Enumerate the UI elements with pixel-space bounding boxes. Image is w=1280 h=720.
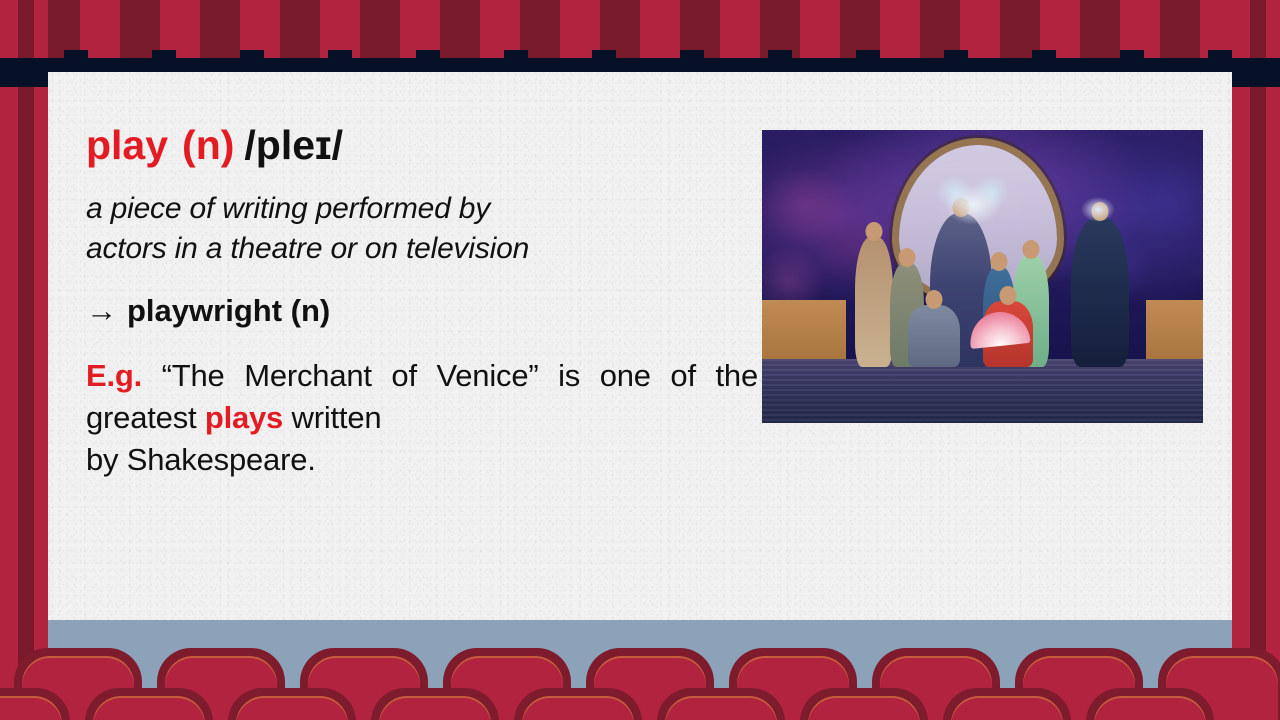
- stage-block-right: [1146, 300, 1203, 359]
- example-line-3: by Shakespeare.: [86, 439, 758, 481]
- example-highlight-word: plays: [205, 400, 283, 435]
- curtain-leg-right: [1232, 0, 1280, 720]
- audience-seat: [228, 688, 356, 720]
- curtain-leg-left: [0, 0, 48, 720]
- example-label: E.g.: [86, 358, 142, 393]
- definition-line-1: a piece of writing performed by: [86, 192, 490, 225]
- right-crown: [1075, 189, 1121, 223]
- vocabulary-slide: play(n)/pleɪ/ a piece of writing perform…: [0, 0, 1280, 720]
- text-column: play(n)/pleɪ/ a piece of writing perform…: [86, 124, 758, 481]
- derivative-line: →playwright (n): [86, 292, 758, 329]
- performer-head: [898, 248, 915, 267]
- audience-seat: [800, 688, 928, 720]
- example-line-1: “The Merchant of Venice” is: [162, 358, 580, 393]
- stage-block-left: [762, 300, 846, 359]
- audience-seat: [371, 688, 499, 720]
- audience-seat: [85, 688, 213, 720]
- audience-seat: [514, 688, 642, 720]
- performer-head: [865, 222, 882, 241]
- example-line-2-after: written: [283, 400, 381, 435]
- stage-floor: [762, 359, 1203, 423]
- pelmet-band: [0, 58, 1280, 72]
- audience-seat: [657, 688, 785, 720]
- stage-performance-photo: [762, 130, 1203, 423]
- example-sentence: E.g. “The Merchant of Venice” is one of …: [86, 355, 758, 481]
- lead-headdress: [934, 171, 1012, 227]
- audience-seat: [1086, 688, 1214, 720]
- performer-head: [999, 286, 1016, 305]
- photo-scene: [762, 130, 1203, 423]
- performer-head: [990, 252, 1007, 271]
- performer-head: [1023, 240, 1040, 259]
- headword-line: play(n)/pleɪ/: [86, 124, 758, 167]
- part-of-speech: (n): [182, 122, 234, 168]
- derivative-word: playwright (n): [127, 293, 330, 328]
- content-panel: play(n)/pleɪ/ a piece of writing perform…: [48, 72, 1232, 620]
- definition-line-2: actors in a theatre or on television: [86, 229, 758, 269]
- phonetic-transcription: /pleɪ/: [244, 122, 343, 168]
- performer-kneeling-grey: [908, 305, 960, 367]
- arrow-right-icon: →: [86, 293, 117, 328]
- audience-seat: [943, 688, 1071, 720]
- headword: play: [86, 122, 168, 168]
- performer-head: [925, 290, 942, 309]
- definition-text: a piece of writing performed by actors i…: [86, 189, 758, 268]
- performer-dark: [1071, 217, 1129, 367]
- performer-tan: [855, 237, 893, 367]
- audience-seating: [0, 620, 1280, 720]
